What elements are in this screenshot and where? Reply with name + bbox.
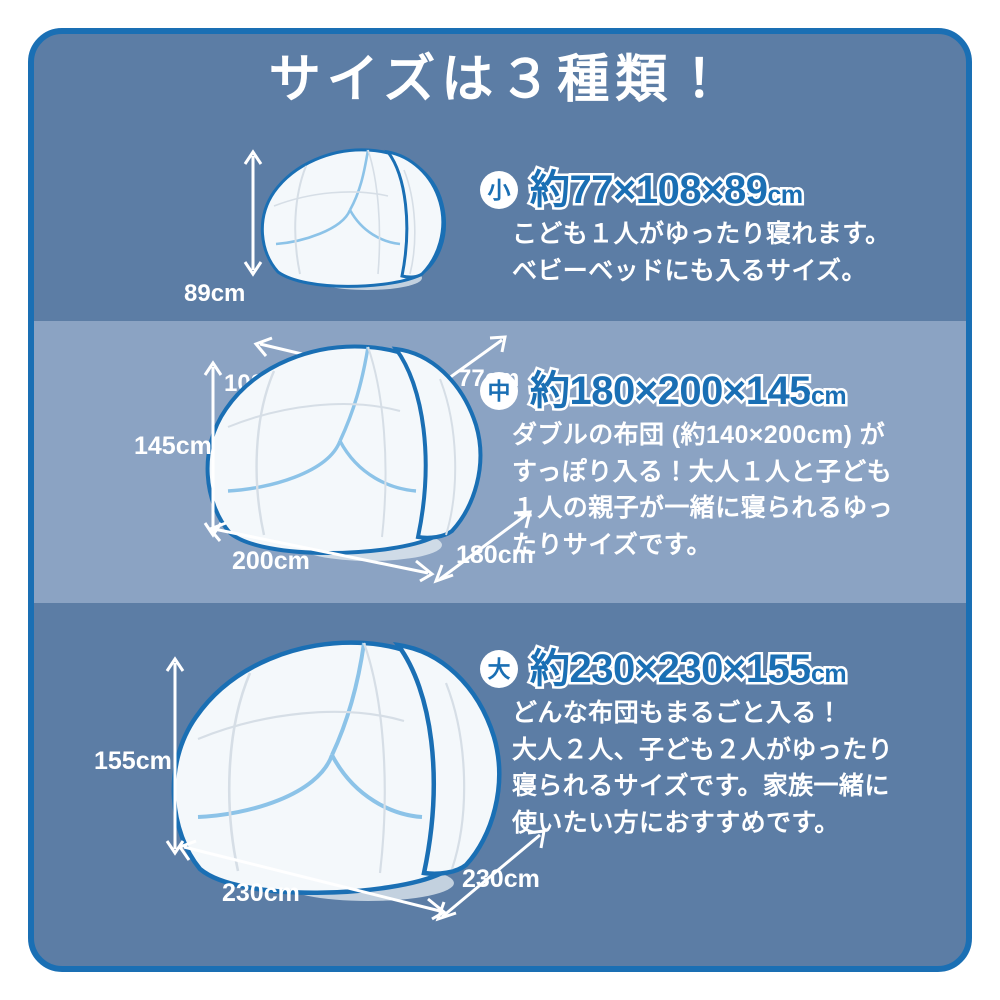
illustration-small xyxy=(182,126,502,306)
dimension-label-depth-large: 230cm xyxy=(462,867,540,892)
dimension-arrow-width-large xyxy=(174,839,454,921)
text-column-small: 小 約77×108×89cm こども１人がゆったり寝れます。 ベビーベッドにも入… xyxy=(480,170,930,289)
dimension-text-large: 約230×230×155cm xyxy=(530,649,846,689)
dimension-label-height-medium: 145cm xyxy=(134,434,212,459)
description-large: どんな布団もまるごと入る！ 大人２人、子ども２人がゆったり 寝られるサイズです。… xyxy=(512,695,940,841)
size-badge-small: 小 xyxy=(480,171,518,209)
size-badge-large: 大 xyxy=(480,650,518,688)
text-column-medium: 中 約180×200×145cm ダブルの布団 (約140×200cm) が す… xyxy=(480,371,940,563)
dimension-label-width-large: 230cm xyxy=(222,881,300,906)
size-heading-medium: 中 約180×200×145cm xyxy=(480,371,940,411)
dimension-text-small: 約77×108×89cm xyxy=(530,170,803,210)
infographic-page: サイズは３種類！ xyxy=(0,0,1000,1000)
size-heading-large: 大 約230×230×155cm xyxy=(480,649,940,689)
dimension-label-height-small: 89cm xyxy=(184,282,245,306)
text-column-large: 大 約230×230×155cm どんな布団もまるごと入る！ 大人２人、子ども２… xyxy=(480,649,940,841)
dimension-arrow-height-small xyxy=(240,148,266,278)
page-title: サイズは３種類！ xyxy=(34,52,966,109)
description-small: こども１人がゆったり寝れます。 ベビーベッドにも入るサイズ。 xyxy=(512,216,930,289)
description-medium: ダブルの布団 (約140×200cm) が すっぽり入る！大人１人と子ども １人… xyxy=(512,417,940,563)
size-row-small: 89cm 108cm 77cm 小 約77×108×89cm xyxy=(34,130,966,320)
size-chart-card: サイズは３種類！ xyxy=(28,28,972,972)
dimension-label-height-large: 155cm xyxy=(94,749,172,774)
size-row-medium: 145cm 200cm 180cm 中 約180×200×145cm xyxy=(34,321,966,603)
size-badge-medium: 中 xyxy=(480,372,518,410)
dimension-text-medium: 約180×200×145cm xyxy=(530,371,846,411)
size-row-large: 155cm 230cm 230cm 大 約230×230×155cm xyxy=(34,603,966,943)
size-heading-small: 小 約77×108×89cm xyxy=(480,170,930,210)
dimension-label-width-medium: 200cm xyxy=(232,549,310,574)
